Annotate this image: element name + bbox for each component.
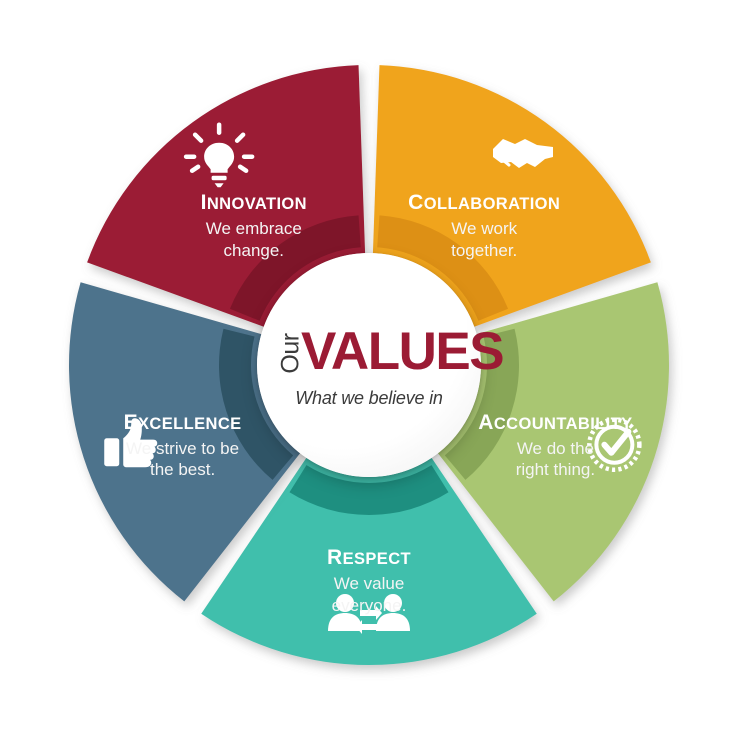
check-badge-icon [589, 420, 639, 470]
hub-tagline: What we believe in [257, 388, 481, 409]
center-hub: Our VALUES What we believe in [257, 253, 481, 477]
hub-headline: VALUES [301, 325, 503, 378]
values-wheel-infographic: COLLABORATIONWe worktogether.ACCOUNTABIL… [0, 0, 738, 738]
center-hub-inner: Our VALUES What we believe in [257, 253, 481, 477]
